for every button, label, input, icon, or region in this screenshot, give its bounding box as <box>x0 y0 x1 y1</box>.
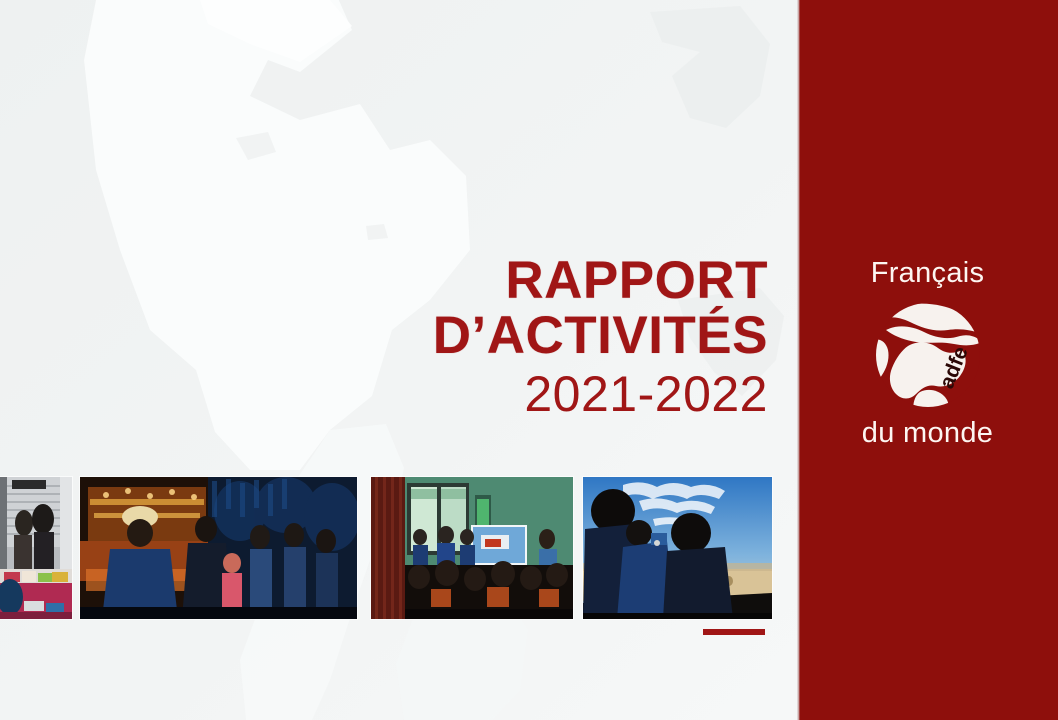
photo-market-stall <box>0 477 72 619</box>
photo-conference-room-image <box>371 477 573 619</box>
brand-name-bottom: du monde <box>797 418 1058 450</box>
photo-conference-room <box>371 477 573 619</box>
brand-name-top: Français <box>797 258 1058 290</box>
cover-main-panel: RAPPORT D’ACTIVITÉS 2021-2022 <box>0 0 797 720</box>
globe-icon: adfe <box>864 296 992 414</box>
photo-desert-viewpoint <box>583 477 772 619</box>
photo-evening-gathering <box>80 477 357 619</box>
brand-panel: Français <box>797 0 1058 720</box>
photo-desert-viewpoint-image <box>583 477 772 619</box>
cover-title-block: RAPPORT D’ACTIVITÉS 2021-2022 <box>433 255 768 420</box>
title-line-activites: D’ACTIVITÉS <box>433 310 768 362</box>
title-years: 2021-2022 <box>433 368 768 421</box>
red-accent-rule <box>703 629 765 635</box>
photo-market-stall-image <box>0 477 72 619</box>
title-line-rapport: RAPPORT <box>433 255 768 307</box>
photo-evening-gathering-image <box>80 477 357 619</box>
brand-lockup: Français <box>797 258 1058 450</box>
report-cover-page: RAPPORT D’ACTIVITÉS 2021-2022 <box>0 0 1058 720</box>
